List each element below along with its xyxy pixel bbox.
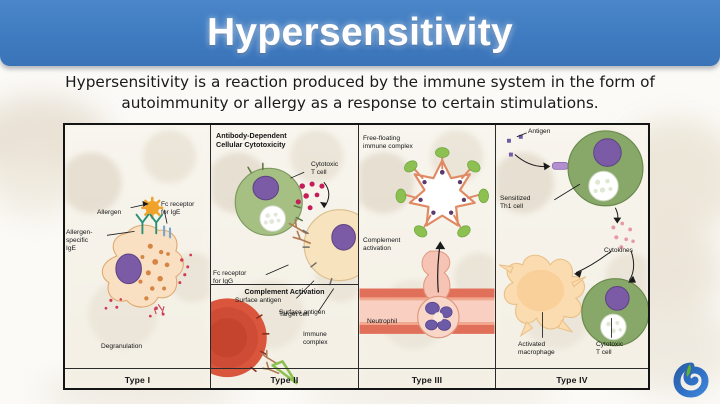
panel-caption-rule bbox=[211, 368, 358, 369]
label-surface-antigen-lower: Surface antigen bbox=[279, 309, 325, 317]
label-immune-complex: Immune complex bbox=[303, 331, 328, 347]
page-title: Hypersensitivity bbox=[207, 11, 513, 55]
page-header: Hypersensitivity bbox=[0, 0, 720, 66]
panel-type-3: Free-floating immune complex Complement … bbox=[359, 125, 496, 388]
label-allergen: Allergen bbox=[97, 209, 121, 217]
label-complement-activation: Complement activation bbox=[363, 237, 400, 253]
caption-type-1: Type I bbox=[65, 375, 210, 385]
definition-line-2: autoimmunity or allergy as a response to… bbox=[121, 93, 598, 114]
label-cytotoxic-t-cell: Cytotoxic T cell bbox=[311, 161, 338, 177]
label-surface-antigen-upper: Surface antigen bbox=[235, 297, 281, 305]
panel-caption-rule bbox=[359, 368, 495, 369]
caption-type-2: Type II bbox=[211, 375, 358, 385]
label-sensitized-th1-cell: Sensitized Th1 cell bbox=[500, 195, 530, 211]
hypersensitivity-diagram: Allergen Fc receptor for IgE Allergen- s… bbox=[63, 123, 650, 390]
label-degranulation: Degranulation bbox=[101, 343, 142, 351]
panel-type-4: Antigen Sensitized Th1 cell Cytokines Ac… bbox=[496, 125, 648, 388]
label-antigen: Antigen bbox=[528, 128, 550, 136]
type-3-illustration bbox=[359, 125, 495, 388]
panel-type-1: Allergen Fc receptor for IgE Allergen- s… bbox=[65, 125, 211, 388]
label-cytokines: Cytokines bbox=[604, 247, 633, 255]
definition-text: Hypersensitivity is a reaction produced … bbox=[0, 68, 720, 118]
panel-caption-rule bbox=[496, 368, 648, 369]
heading-adcc: Antibody-Dependent Cellular Cytotoxicity bbox=[216, 131, 287, 149]
caption-type-3: Type III bbox=[359, 375, 495, 385]
biologyonline-logo-icon bbox=[674, 362, 708, 396]
complement-section-rule bbox=[211, 284, 358, 285]
definition-line-1: Hypersensitivity is a reaction produced … bbox=[65, 72, 655, 93]
label-activated-macrophage: Activated macrophage bbox=[518, 341, 555, 357]
panel-caption-rule bbox=[65, 368, 210, 369]
label-free-floating-immune-complex: Free-floating immune complex bbox=[363, 135, 413, 151]
caption-type-4: Type IV bbox=[496, 375, 648, 385]
site-logo[interactable] bbox=[674, 362, 708, 396]
label-allergen-specific-ige: Allergen- specific IgE bbox=[66, 229, 92, 254]
heading-complement-activation: Complement Activation bbox=[211, 287, 358, 296]
panel-type-2: Antibody-Dependent Cellular Cytotoxicity… bbox=[211, 125, 359, 388]
label-neutrophil: Neutrophil bbox=[367, 318, 397, 326]
label-fc-receptor-ige: Fc receptor for IgE bbox=[161, 201, 194, 217]
label-cytotoxic-t-cell: Cytotoxic T cell bbox=[596, 341, 623, 357]
